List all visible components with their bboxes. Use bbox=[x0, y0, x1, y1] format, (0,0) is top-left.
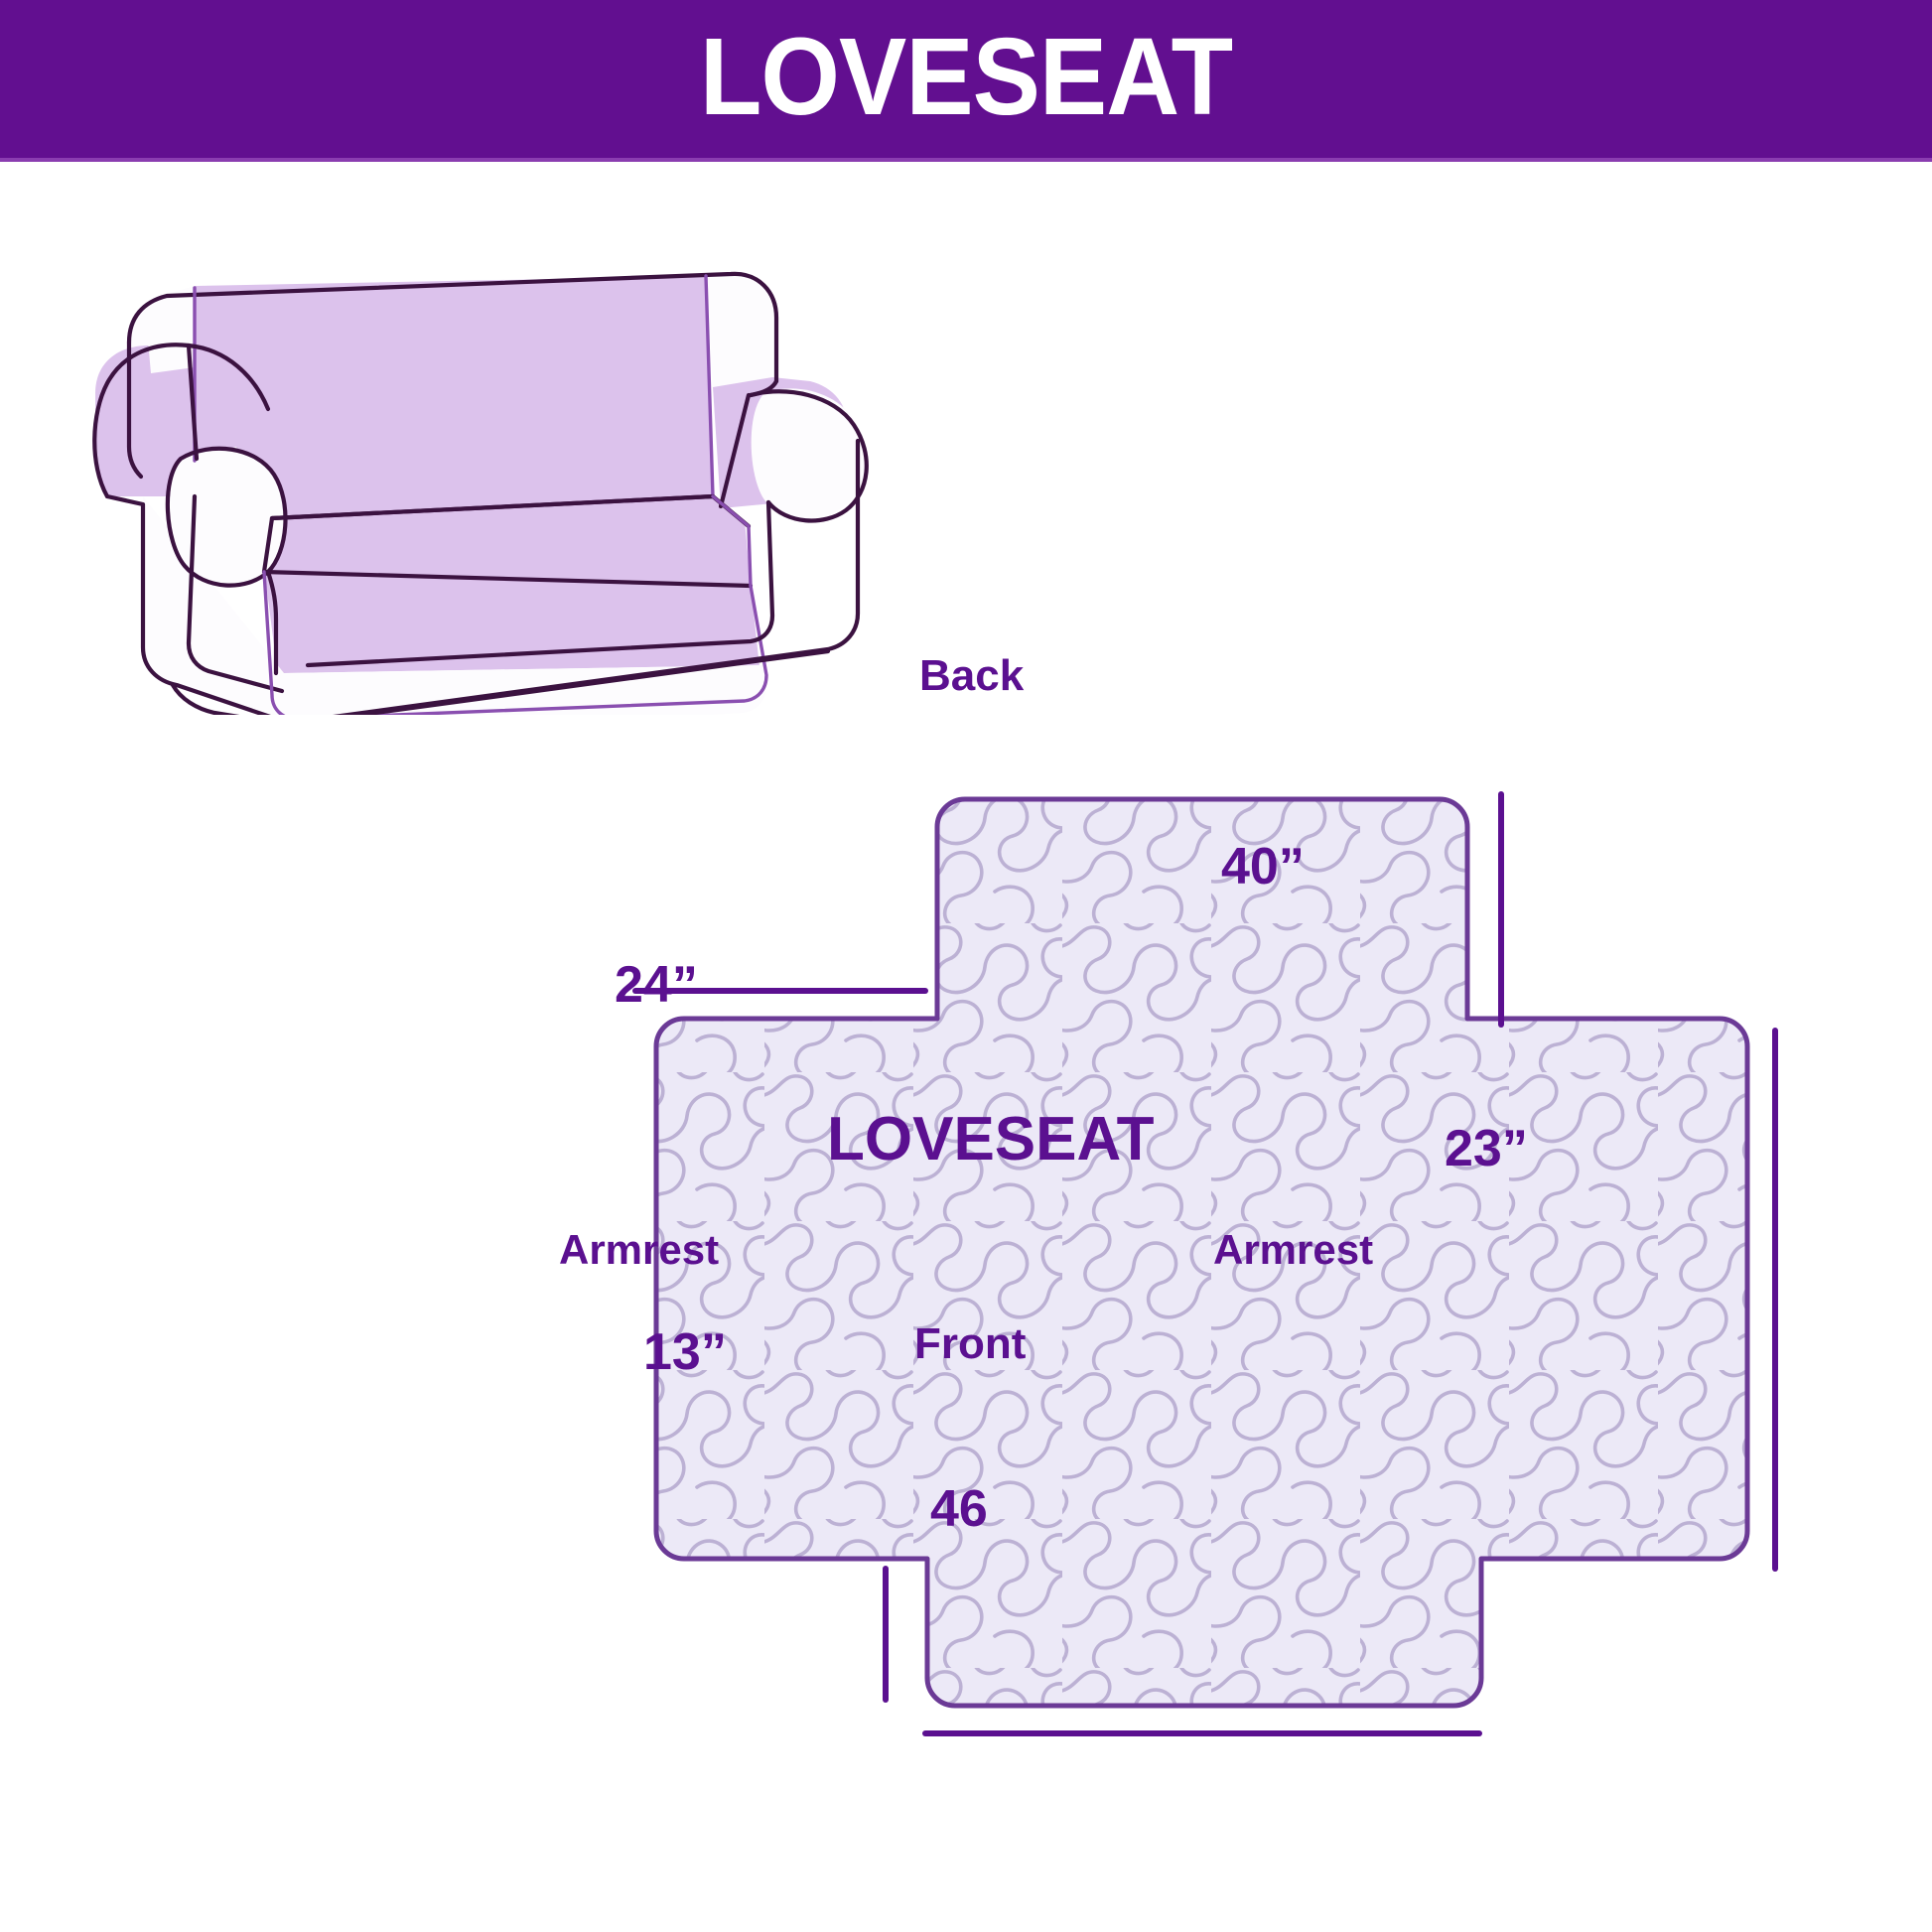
dimension-label-back-height: 40” bbox=[1221, 841, 1305, 893]
panel-label-armrest-right: Armrest bbox=[1213, 1229, 1373, 1271]
dimension-label-back-offset: 24” bbox=[615, 959, 698, 1011]
cover-center-label: LOVESEAT bbox=[827, 1109, 1155, 1171]
product-spec-image: LOVESEAT .fl { fill:#DCC2EC; } .wh { fil… bbox=[0, 0, 1932, 1932]
panel-label-front: Front bbox=[914, 1322, 1026, 1366]
panel-label-back: Back bbox=[919, 654, 1024, 698]
dimension-label-front-width: 46 bbox=[930, 1483, 988, 1535]
header-banner: LOVESEAT bbox=[0, 0, 1932, 162]
page-title: LOVESEAT bbox=[68, 0, 1864, 154]
cover-layout-diagram bbox=[616, 774, 1932, 1932]
dimension-label-front-height: 13” bbox=[643, 1326, 727, 1378]
dimension-label-armrest-height: 23” bbox=[1445, 1123, 1528, 1174]
panel-label-armrest-left: Armrest bbox=[559, 1229, 719, 1271]
loveseat-illustration: .fl { fill:#DCC2EC; } .wh { fill:#FDFCFE… bbox=[77, 199, 971, 715]
cover-outline bbox=[656, 799, 1747, 1706]
